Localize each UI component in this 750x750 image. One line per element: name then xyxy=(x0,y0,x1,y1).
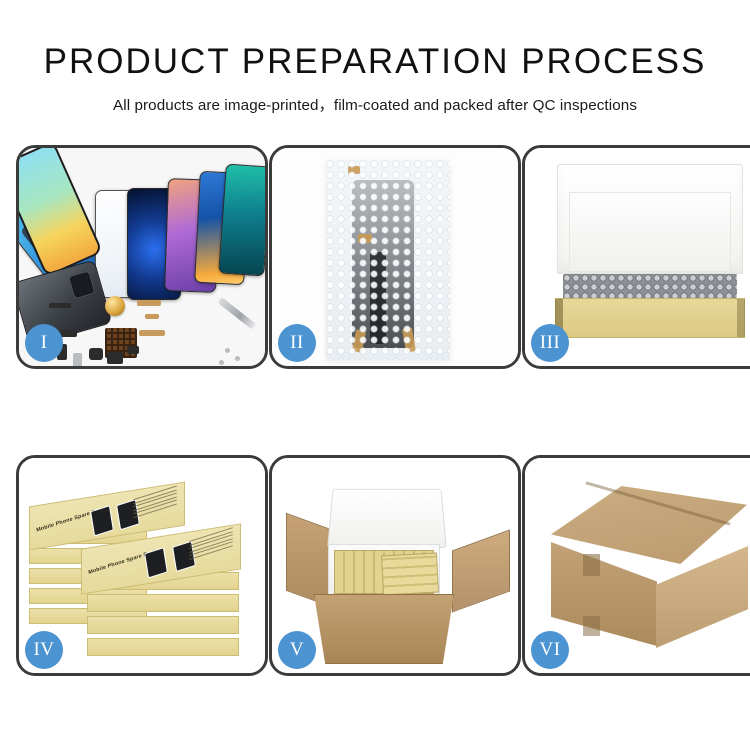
process-steps-grid: I II xyxy=(16,145,734,676)
box-lid-phone-image xyxy=(144,547,168,578)
box-lid-text-lines xyxy=(189,531,233,560)
step-badge-5: V xyxy=(278,631,316,669)
carton-top-face xyxy=(551,486,747,564)
button-part xyxy=(127,346,139,354)
carton-tape xyxy=(583,616,600,636)
box-lid-phone-image xyxy=(90,505,114,536)
bubble-texture xyxy=(326,160,450,360)
vibration-motor-part xyxy=(105,296,125,316)
carton-front-panel xyxy=(314,594,454,664)
step-badge-6: VI xyxy=(531,631,569,669)
box-edge xyxy=(87,616,239,634)
carton-tape xyxy=(583,554,600,576)
earpiece-part xyxy=(89,348,103,360)
infographic-page: PRODUCT PREPARATION PROCESS All products… xyxy=(0,0,750,750)
box-edge xyxy=(87,594,239,612)
styrofoam-lid xyxy=(327,489,447,548)
connector-part xyxy=(49,303,71,308)
step-panel-5: V xyxy=(269,455,521,676)
screw-part xyxy=(235,356,240,361)
screw-part xyxy=(219,360,224,365)
flex-cable-part xyxy=(145,314,159,319)
carton-flap-right xyxy=(452,529,510,612)
step-badge-1: I xyxy=(25,324,63,362)
screwdriver-icon xyxy=(218,297,257,330)
phone-screen-teal xyxy=(218,164,265,277)
taptic-part xyxy=(107,352,123,364)
step-panel-6: VI xyxy=(522,455,750,676)
box-edge xyxy=(87,638,239,656)
header: PRODUCT PREPARATION PROCESS All products… xyxy=(0,0,750,115)
step-badge-3: III xyxy=(531,324,569,362)
sim-tray-part xyxy=(73,353,82,366)
carton-left-face xyxy=(551,542,657,646)
flex-cable-part xyxy=(137,300,161,306)
step-panel-2: II xyxy=(269,145,521,369)
step-badge-4: IV xyxy=(25,631,63,669)
packed-kraft-boxes xyxy=(381,553,439,596)
step-panel-4: Mobile Phone Spare Parts Mobile Phone Sp… xyxy=(16,455,268,676)
box-lid-text-lines xyxy=(133,489,177,518)
step-badge-2: II xyxy=(278,324,316,362)
page-title: PRODUCT PREPARATION PROCESS xyxy=(0,42,750,82)
kraft-box-base xyxy=(555,298,745,338)
step-panel-1: I xyxy=(16,145,268,369)
screw-part xyxy=(225,348,230,353)
foam-sheet xyxy=(569,192,731,272)
page-subtitle: All products are image-printed，film-coat… xyxy=(0,93,750,115)
antenna-flex-part xyxy=(139,330,165,336)
bubble-wrap-bag xyxy=(326,160,450,360)
step-panel-3: III xyxy=(522,145,750,369)
